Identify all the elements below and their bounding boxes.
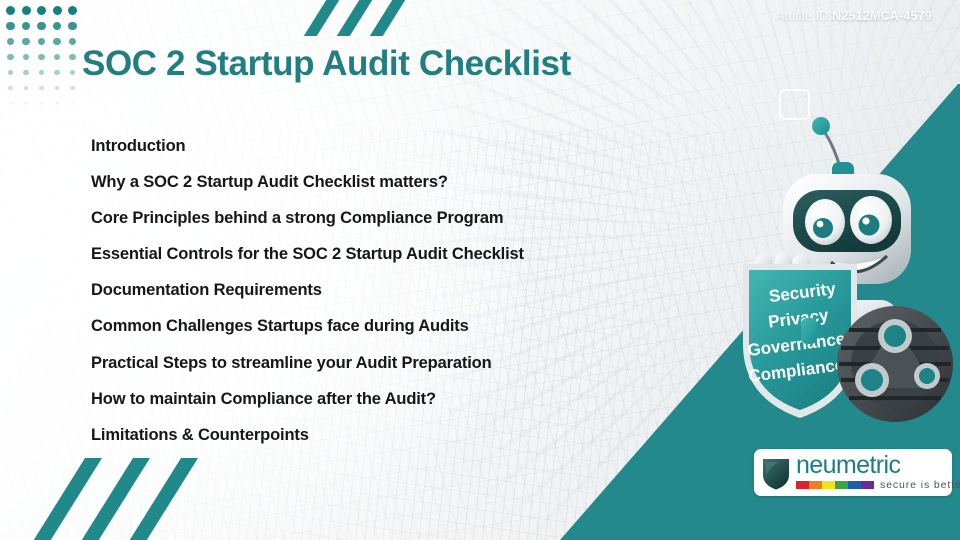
dot-decoration [6,6,15,15]
dot-decoration [24,86,29,91]
dot-decoration [70,86,75,91]
dot-decoration [38,54,44,60]
dot-decoration [23,70,28,75]
toc-item[interactable]: How to maintain Compliance after the Aud… [91,391,691,408]
toc-item[interactable]: Why a SOC 2 Startup Audit Checklist matt… [91,174,691,191]
robot-pupil-left [813,218,833,238]
logo-bar-segment [848,481,861,489]
article-id-value: N2512MCA-4579 [832,9,932,23]
toc-item[interactable]: Documentation Requirements [91,282,691,299]
article-id-label: Article ID [776,9,829,23]
toc-item[interactable]: Introduction [91,138,691,155]
dot-decoration [38,38,45,45]
dot-decoration [40,102,44,106]
dot-decoration [39,70,44,75]
dot-decoration [22,38,29,45]
dot-decoration [68,6,77,15]
logo-bar-segment [835,481,848,489]
logo-bar-segment [809,481,822,489]
robot-eye-glint-left [817,221,824,228]
logo-bar-segment [861,481,874,489]
dot-decoration [22,22,30,30]
dot-decoration [7,38,14,45]
dot-decoration [53,22,61,30]
logo-tagline: secure is better [880,479,960,491]
neumetric-logo[interactable]: neumetric secure is better [754,449,952,496]
logo-bar-segment [796,481,809,489]
dot-decoration [22,6,31,15]
table-of-contents: IntroductionWhy a SOC 2 Startup Audit Ch… [91,138,691,463]
dot-decoration [53,6,62,15]
toc-item[interactable]: Core Principles behind a strong Complian… [91,210,691,227]
dot-decoration [68,22,76,30]
robot-eye-glint-right [862,217,869,224]
toc-item[interactable]: Practical Steps to streamline your Audit… [91,355,691,372]
logo-bar-segment [822,481,835,489]
dot-decoration [37,22,45,30]
dot-decoration [55,86,60,91]
dot-decoration [7,54,13,60]
diagonal-stripes-top [330,0,460,36]
toc-item[interactable]: Limitations & Counterpoints [91,427,691,444]
dot-decoration [69,54,75,60]
dot-decoration [6,22,14,30]
page-title: SOC 2 Startup Audit Checklist [82,44,571,84]
dot-decoration [55,102,59,106]
dot-decoration [39,86,44,91]
antenna-ball [812,117,830,135]
dot-decoration [71,102,75,106]
dot-decoration [8,70,13,75]
robot-wheel [837,306,953,422]
dot-decoration [54,54,60,60]
robot-mascot: Security Privacy Governance Compliance [735,112,960,422]
logo-wordmark: neumetric [796,454,960,478]
dot-decoration [53,38,60,45]
robot-body-accent [801,318,817,344]
robot-pupil-right [859,215,880,236]
logo-color-bar [796,481,874,489]
logo-shield-icon [761,455,791,491]
dot-decoration [24,102,28,106]
dot-decoration [54,70,59,75]
dot-decoration [23,54,29,60]
diagonal-stripes-bottom [85,458,255,540]
dot-decoration [69,38,76,45]
dot-decoration [37,6,46,15]
mascot-shield: Security Privacy Governance Compliance [743,264,857,418]
slide-canvas: Article ID N2512MCA-4579 SOC 2 Startup A… [0,0,960,540]
dot-decoration [9,102,13,106]
dot-decoration [70,70,75,75]
toc-item[interactable]: Common Challenges Startups face during A… [91,318,691,335]
article-id: Article ID N2512MCA-4579 [776,9,932,23]
toc-item[interactable]: Essential Controls for the SOC 2 Startup… [91,246,691,263]
dot-decoration [8,86,13,91]
